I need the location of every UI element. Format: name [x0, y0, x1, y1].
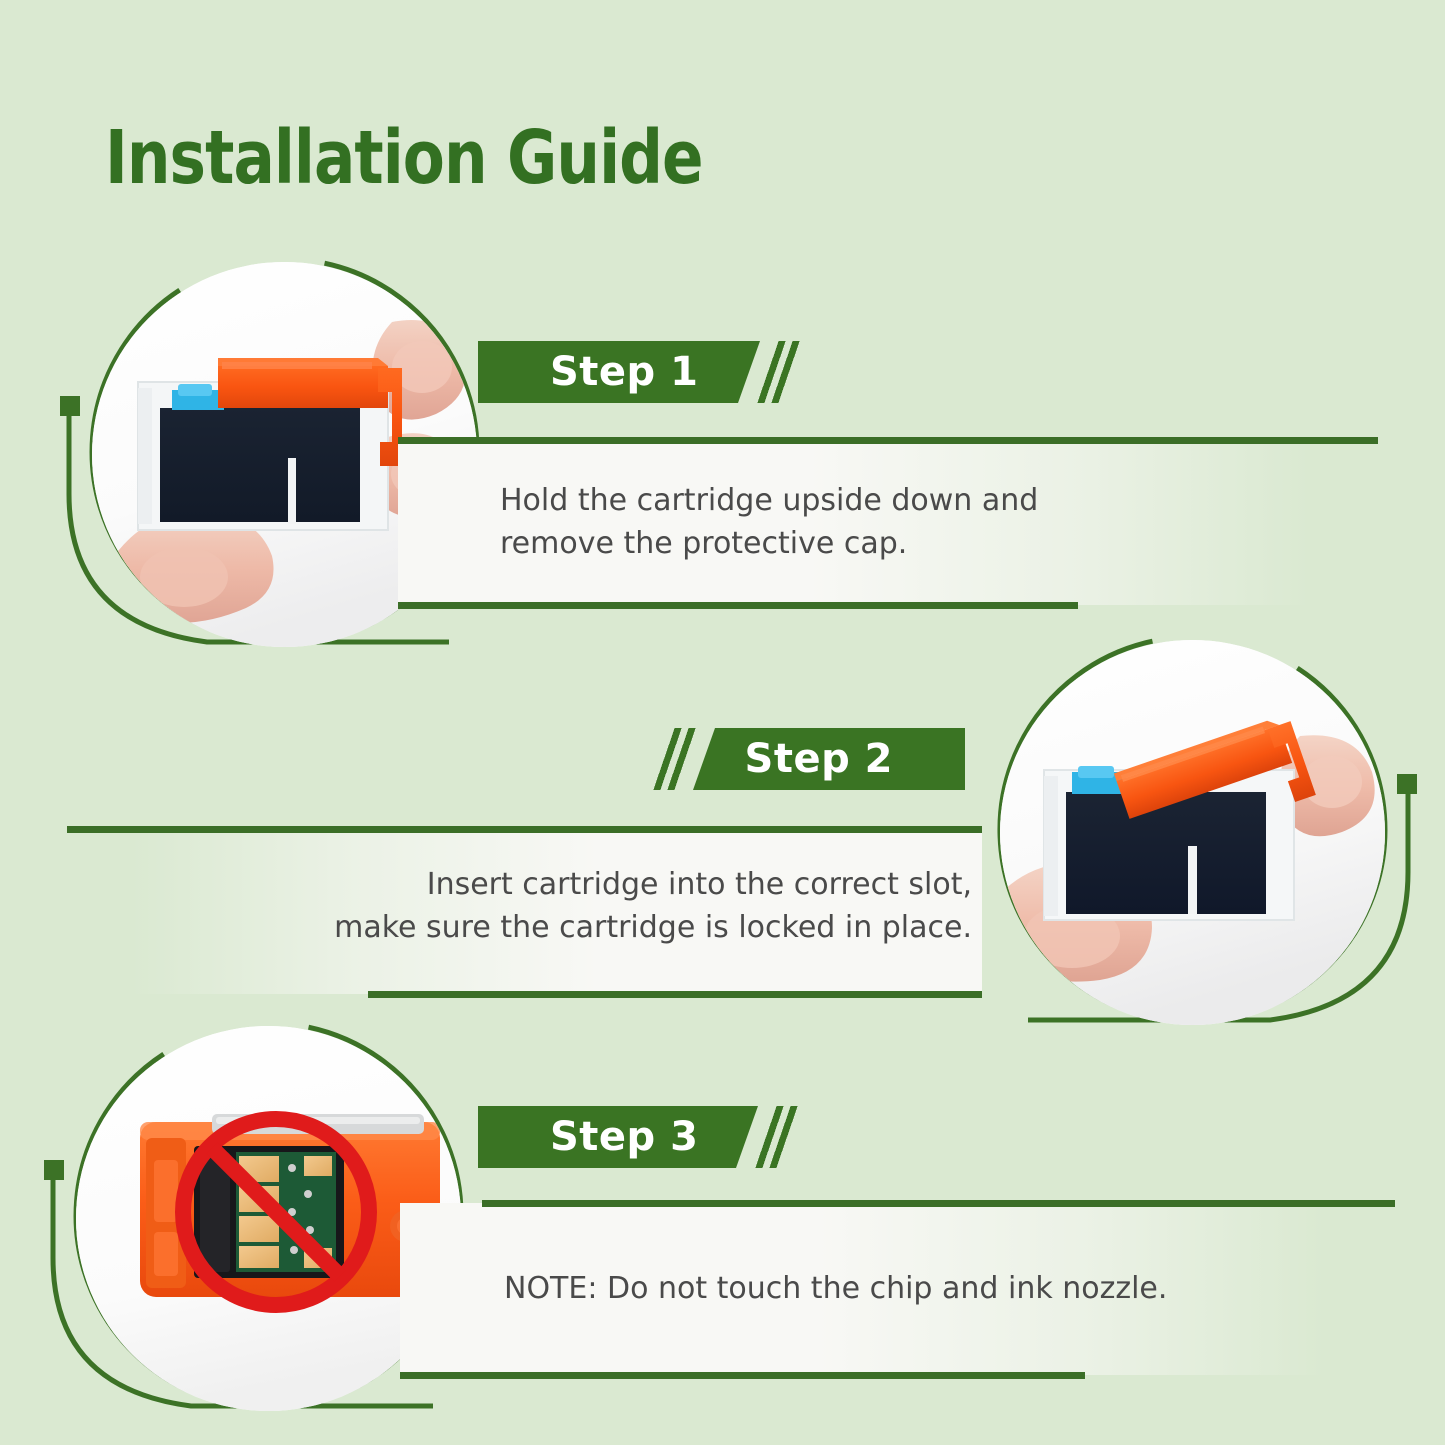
step-1-description: Hold the cartridge upside down and remov… [500, 480, 1220, 565]
step-3-accent-stripe [753, 1106, 800, 1168]
step-1-bottom-rule [398, 602, 1078, 609]
step-3-tab-square [44, 1160, 64, 1180]
step-3-badge-label: Step 3 [550, 1117, 698, 1157]
step-1-accent-stripe [755, 341, 802, 403]
step-1-top-rule [398, 437, 1378, 444]
step-2-photo-illustration [1000, 640, 1385, 1025]
step-2-tab-square [1397, 774, 1417, 794]
step-2-photo-group [1000, 640, 1385, 1025]
step-1-badge-label: Step 1 [550, 352, 698, 392]
step-2-badge-label: Step 2 [745, 739, 893, 779]
step-1-tab-square [60, 396, 80, 416]
step-2-photo [1000, 640, 1385, 1025]
step-1-badge: Step 1 [478, 341, 760, 403]
step-3-badge: Step 3 [478, 1106, 758, 1168]
page-title: Installation Guide [105, 115, 703, 201]
step-3-bottom-rule [400, 1372, 1085, 1379]
step-2-bottom-rule [368, 991, 982, 998]
step-2-description: Insert cartridge into the correct slot, … [252, 864, 972, 949]
step-3-description: NOTE: Do not touch the chip and ink nozz… [504, 1268, 1284, 1311]
step-2-badge: Step 2 [693, 728, 965, 790]
step-2-accent-stripe [651, 728, 698, 790]
installation-guide-page: Installation Guide [0, 0, 1445, 1445]
step-2-top-rule [67, 826, 982, 833]
step-3-top-rule [482, 1200, 1395, 1207]
